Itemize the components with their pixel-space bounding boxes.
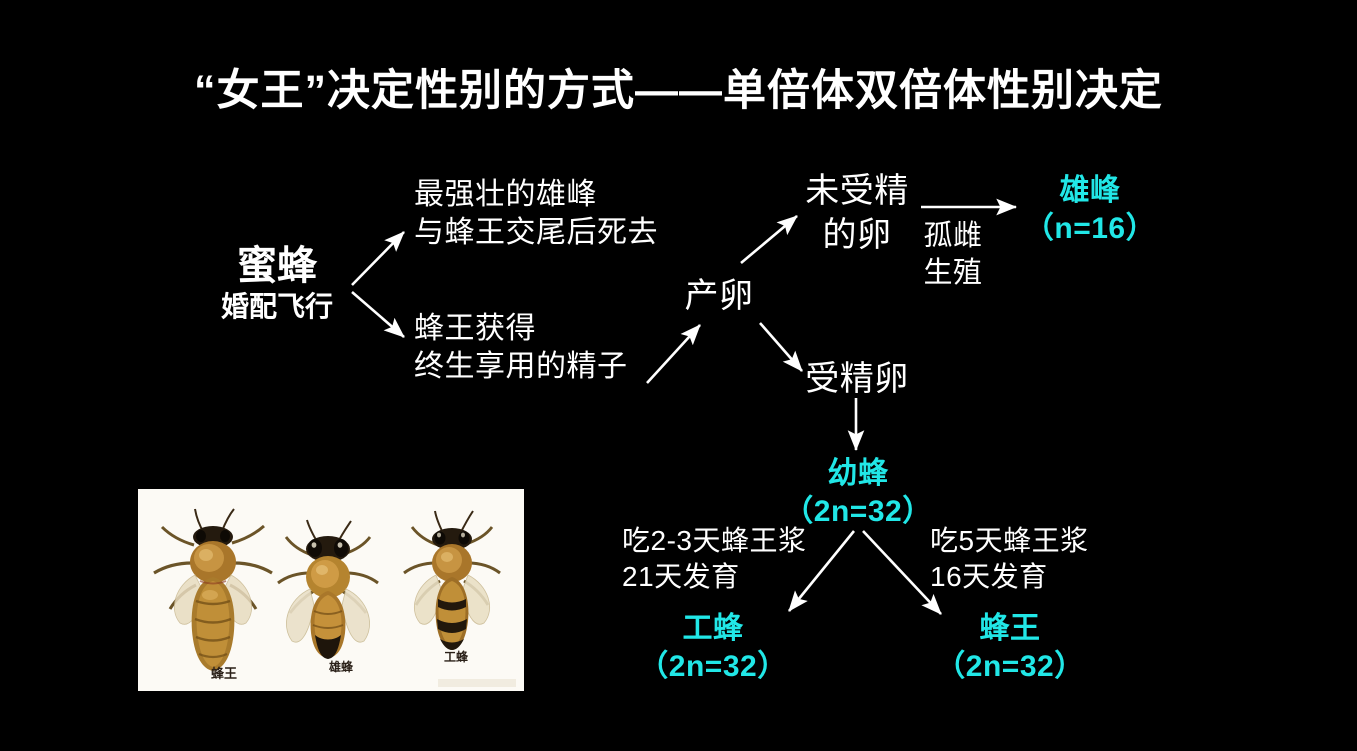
bee-castes-photo: 蜂王 <box>138 489 524 691</box>
photo-caption-drone: 雄蜂 <box>328 659 354 674</box>
node-parthenogenesis: 孤雌 生殖 <box>923 218 982 292</box>
node-strongest-drone: 最强壮的雄峰 与蜂王交尾后死去 <box>414 176 724 253</box>
node-fertilized-egg: 受精卵 <box>805 358 909 402</box>
node-queen-gets-sperm: 蜂王获得 终生享用的精子 <box>414 310 734 387</box>
node-drone-ploidy: （n=16） <box>1024 210 1156 248</box>
page-title: “女王”决定性别的方式——单倍体双倍体性别决定 <box>0 56 1357 118</box>
slide-canvas: “女王”决定性别的方式——单倍体双倍体性别决定 蜜蜂 婚配飞行 最强壮的雄峰 <box>0 0 1357 751</box>
bee-castes-illustration: 蜂王 <box>138 489 524 691</box>
arrow-layeggs-to-unfertilized <box>741 216 797 263</box>
node-queen-result: 蜂王 <box>980 610 1041 648</box>
node-honeybee-subtitle: 婚配飞行 <box>182 289 372 325</box>
node-worker-feeding: 吃2-3天蜂王浆 21天发育 <box>622 523 882 595</box>
photo-caption-queen: 蜂王 <box>211 666 237 681</box>
node-worker-result: 工蜂 <box>683 610 744 648</box>
node-lay-eggs: 产卵 <box>685 275 754 319</box>
node-unfertilized-egg: 未受精 的卵 <box>805 170 909 257</box>
node-queen-ploidy: （2n=32） <box>935 648 1084 686</box>
arrow-layeggs-to-fertilized <box>760 323 802 371</box>
photo-caption-worker: 工蜂 <box>444 649 469 664</box>
node-queen-feeding: 吃5天蜂王浆 16天发育 <box>930 523 1190 595</box>
node-honeybee: 蜜蜂 婚配飞行 <box>182 243 372 325</box>
node-honeybee-title: 蜜蜂 <box>182 243 372 289</box>
node-larva: 幼蜂 <box>828 455 889 493</box>
node-drone-result: 雄峰 <box>1060 172 1121 210</box>
node-worker-ploidy: （2n=32） <box>638 648 787 686</box>
